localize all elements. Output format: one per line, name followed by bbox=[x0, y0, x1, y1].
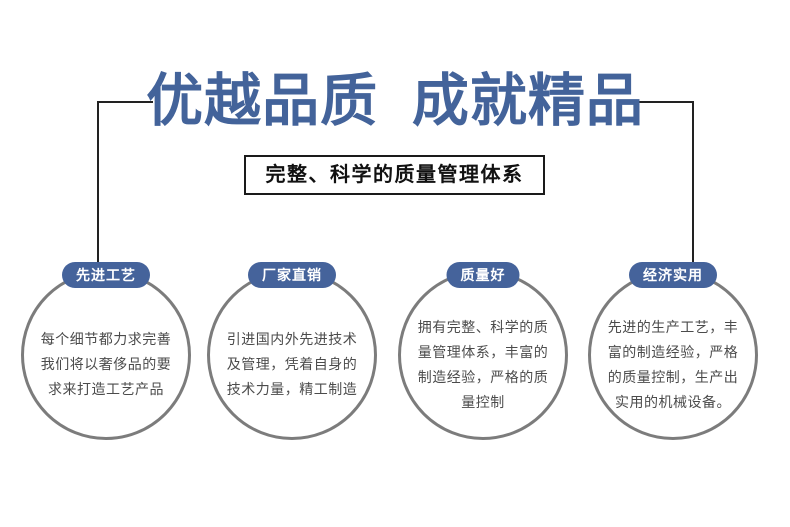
card-badge[interactable]: 经济实用 bbox=[629, 262, 717, 288]
feature-card: 先进工艺 每个细节都力求完善 我们将以奢侈品的要 求来打造工艺产品 bbox=[13, 262, 199, 442]
card-body-line: 富的制造经验，严格 bbox=[608, 340, 739, 365]
card-body-line: 的质量控制，生产出 bbox=[608, 365, 739, 390]
page-title: 优越品质 成就精品 bbox=[0, 68, 790, 134]
card-body-line: 量管理体系，丰富的 bbox=[418, 340, 549, 365]
card-body-line: 实用的机械设备。 bbox=[615, 390, 731, 415]
card-body-line: 拥有完整、科学的质 bbox=[418, 315, 549, 340]
card-body-line: 每个细节都力求完善 bbox=[41, 327, 172, 352]
promo-poster: 优越品质 成就精品 完整、科学的质量管理体系 先进工艺 每个细节都力求完善 我们… bbox=[0, 0, 790, 527]
card-body-line: 及管理，凭着自身的 bbox=[227, 352, 358, 377]
feature-card: 厂家直销 引进国内外先进技术 及管理，凭着自身的 技术力量，精工制造 bbox=[199, 262, 385, 442]
subtitle-text: 完整、科学的质量管理体系 bbox=[266, 165, 524, 185]
card-body-line: 先进的生产工艺，丰 bbox=[608, 315, 739, 340]
card-body-line: 引进国内外先进技术 bbox=[227, 327, 358, 352]
card-body-line: 量控制 bbox=[461, 390, 505, 415]
subtitle-box: 完整、科学的质量管理体系 bbox=[244, 155, 545, 195]
feature-card-list: 先进工艺 每个细节都力求完善 我们将以奢侈品的要 求来打造工艺产品 厂家直销 引… bbox=[0, 262, 790, 442]
card-body-text: 每个细节都力求完善 我们将以奢侈品的要 求来打造工艺产品 bbox=[32, 302, 180, 427]
card-body-text: 拥有完整、科学的质 量管理体系，丰富的 制造经验，严格的质 量控制 bbox=[409, 302, 557, 427]
card-badge[interactable]: 质量好 bbox=[447, 262, 520, 288]
card-body-line: 我们将以奢侈品的要 bbox=[41, 352, 172, 377]
card-badge[interactable]: 先进工艺 bbox=[62, 262, 150, 288]
feature-card: 质量好 拥有完整、科学的质 量管理体系，丰富的 制造经验，严格的质 量控制 bbox=[390, 262, 576, 442]
feature-card: 经济实用 先进的生产工艺，丰 富的制造经验，严格 的质量控制，生产出 实用的机械… bbox=[580, 262, 766, 442]
card-body-text: 引进国内外先进技术 及管理，凭着自身的 技术力量，精工制造 bbox=[218, 302, 366, 427]
card-body-line: 制造经验，严格的质 bbox=[418, 365, 549, 390]
card-badge[interactable]: 厂家直销 bbox=[248, 262, 336, 288]
card-body-line: 求来打造工艺产品 bbox=[48, 377, 164, 402]
card-body-text: 先进的生产工艺，丰 富的制造经验，严格 的质量控制，生产出 实用的机械设备。 bbox=[599, 302, 747, 427]
card-body-line: 技术力量，精工制造 bbox=[227, 377, 358, 402]
